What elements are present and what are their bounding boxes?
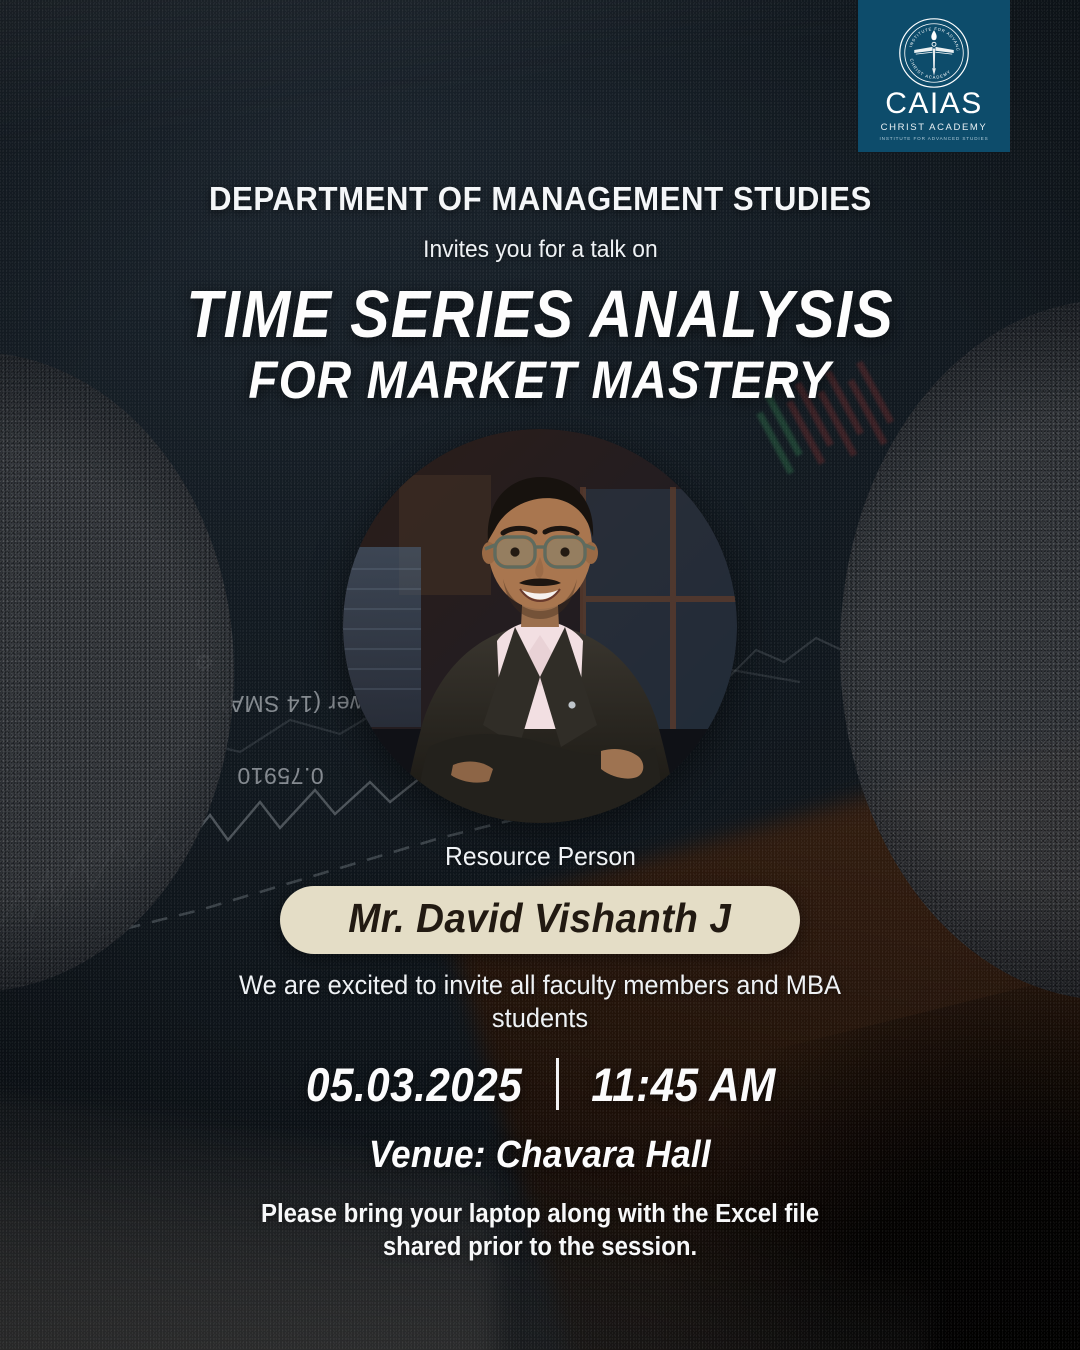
event-venue: Venue: Chavara Hall <box>369 1134 711 1177</box>
event-date: 05.03.2025 <box>306 1057 522 1112</box>
date-time-row: 05.03.2025 11:45 AM <box>294 1057 786 1112</box>
resource-person-label: Resource Person <box>445 841 636 872</box>
event-time: 11:45 AM <box>591 1057 776 1112</box>
talk-title-line1: TIME SERIES ANALYSIS <box>186 282 894 348</box>
resource-person-name: Mr. David Vishanth J <box>348 897 731 940</box>
date-time-divider <box>556 1058 559 1110</box>
resource-person-portrait <box>343 429 737 823</box>
event-instruction: Please bring your laptop along with the … <box>249 1198 832 1264</box>
poster-content: DEPARTMENT OF MANAGEMENT STUDIES Invites… <box>0 0 1080 1350</box>
department-heading: DEPARTMENT OF MANAGEMENT STUDIES <box>209 181 872 219</box>
invitation-line: Invites you for a talk on <box>423 236 657 264</box>
event-poster: ⚙ 0.75910 ower (14 SMA) INSTITUTE FOR AD… <box>0 0 1080 1350</box>
talk-title-line2: FOR MARKET MASTERY <box>248 354 831 407</box>
audience-note: We are excited to invite all faculty mem… <box>233 969 847 1035</box>
portrait-illustration <box>343 429 737 823</box>
resource-person-name-pill: Mr. David Vishanth J <box>280 886 799 954</box>
